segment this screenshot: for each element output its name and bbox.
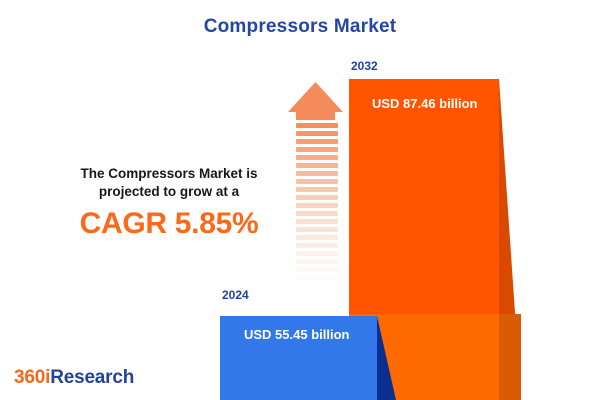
arrow-rung <box>296 267 338 272</box>
arrow-neck <box>296 110 335 120</box>
bar-2024-value-label: USD 55.45 billion <box>244 327 349 342</box>
arrow-rung <box>296 195 338 200</box>
cagr-lead-text: The Compressors Market is projected to g… <box>58 165 280 201</box>
arrow-rung <box>296 219 338 224</box>
infographic-canvas: Compressors Market 2032 USD 87.46 billio… <box>0 0 600 400</box>
cagr-lead-line1: The Compressors Market is <box>80 166 257 181</box>
arrow-rung <box>296 227 338 232</box>
arrow-rung <box>296 291 338 296</box>
cagr-lead-line2: projected to grow at a <box>99 184 239 199</box>
arrow-rung <box>296 155 338 160</box>
arrow-rung <box>296 243 338 248</box>
arrow-rung <box>296 131 338 136</box>
cagr-value-text: CAGR 5.85% <box>58 207 280 241</box>
arrow-rung <box>296 123 338 128</box>
bar-2032-year-label: 2032 <box>351 59 378 73</box>
bar-2024-year-label: 2024 <box>222 288 249 302</box>
cagr-annotation: The Compressors Market is projected to g… <box>58 165 280 241</box>
arrow-head-icon <box>288 82 343 112</box>
arrow-shaft <box>296 123 338 297</box>
arrow-rung <box>296 187 338 192</box>
arrow-rung <box>296 203 338 208</box>
arrow-rung <box>296 171 338 176</box>
arrow-rung <box>296 179 338 184</box>
arrow-rung <box>296 163 338 168</box>
arrow-rung <box>296 251 338 256</box>
arrow-rung <box>296 147 338 152</box>
page-title: Compressors Market <box>0 16 600 38</box>
arrow-rung <box>296 235 338 240</box>
arrow-rung <box>296 139 338 144</box>
growth-arrow-icon <box>288 82 343 297</box>
arrow-rung <box>296 259 338 264</box>
bar-2032-side-face-lower <box>499 314 521 400</box>
arrow-rung <box>296 275 338 280</box>
logo-360i-text: 360i <box>14 367 50 388</box>
arrow-rung <box>296 211 338 216</box>
arrow-rung <box>296 283 338 288</box>
bar-2032-value-label: USD 87.46 billion <box>372 96 477 111</box>
logo-research-text: Research <box>50 367 134 388</box>
brand-logo[interactable]: 360iResearch <box>14 367 134 389</box>
